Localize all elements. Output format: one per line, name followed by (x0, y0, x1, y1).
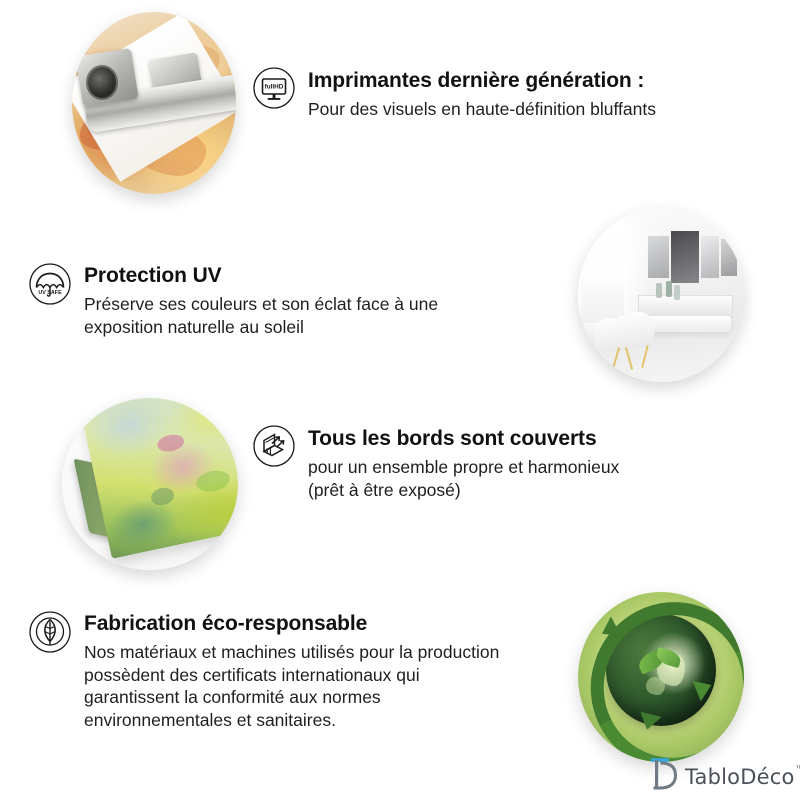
feature-title: Tous les bords sont couverts (308, 427, 619, 452)
td-monogram-logo-icon (648, 757, 680, 791)
feature-body: Préserve ses couleurs et son éclat face … (84, 293, 438, 339)
green-earth-recycling-photo (578, 592, 744, 762)
feature-body: Pour des visuels en haute-définition blu… (308, 98, 656, 121)
canvas-corner-colorful-print-photo (62, 398, 238, 570)
svg-text:fullHD: fullHD (265, 84, 284, 91)
feature-covered-edges: Tous les bords sont couverts pour un ens… (252, 424, 619, 501)
feature-body: Nos matériaux et machines utilisés pour … (84, 641, 499, 732)
bright-interior-wall-art-photo (578, 208, 744, 382)
covered-edges-icon (252, 424, 296, 468)
printer-roller-world-map-photo (72, 12, 236, 194)
feature-title: Imprimantes dernière génération : (308, 69, 656, 94)
infographic-canvas: fullHD Imprimantes dernière génération :… (0, 0, 800, 800)
feature-title: Protection UV (84, 264, 438, 289)
trademark-symbol: ™ (796, 761, 800, 773)
uv-safe-umbrella-icon: UV SAFE (28, 262, 72, 306)
feature-printers: fullHD Imprimantes dernière génération :… (252, 66, 656, 121)
brand-name: TabloDéco (685, 761, 795, 788)
brand-logo[interactable]: TabloDéco ™ fr (648, 757, 800, 791)
fullhd-monitor-icon: fullHD (252, 66, 296, 110)
feature-body: pour un ensemble propre et harmonieux (p… (308, 456, 619, 502)
feature-title: Fabrication éco-responsable (84, 612, 499, 637)
eco-leaf-icon (28, 610, 72, 654)
svg-text:UV SAFE: UV SAFE (38, 290, 62, 296)
feature-eco-manufacturing: Fabrication éco-responsable Nos matériau… (28, 610, 499, 732)
feature-uv-protection: UV SAFE Protection UV Préserve ses coule… (28, 262, 438, 338)
